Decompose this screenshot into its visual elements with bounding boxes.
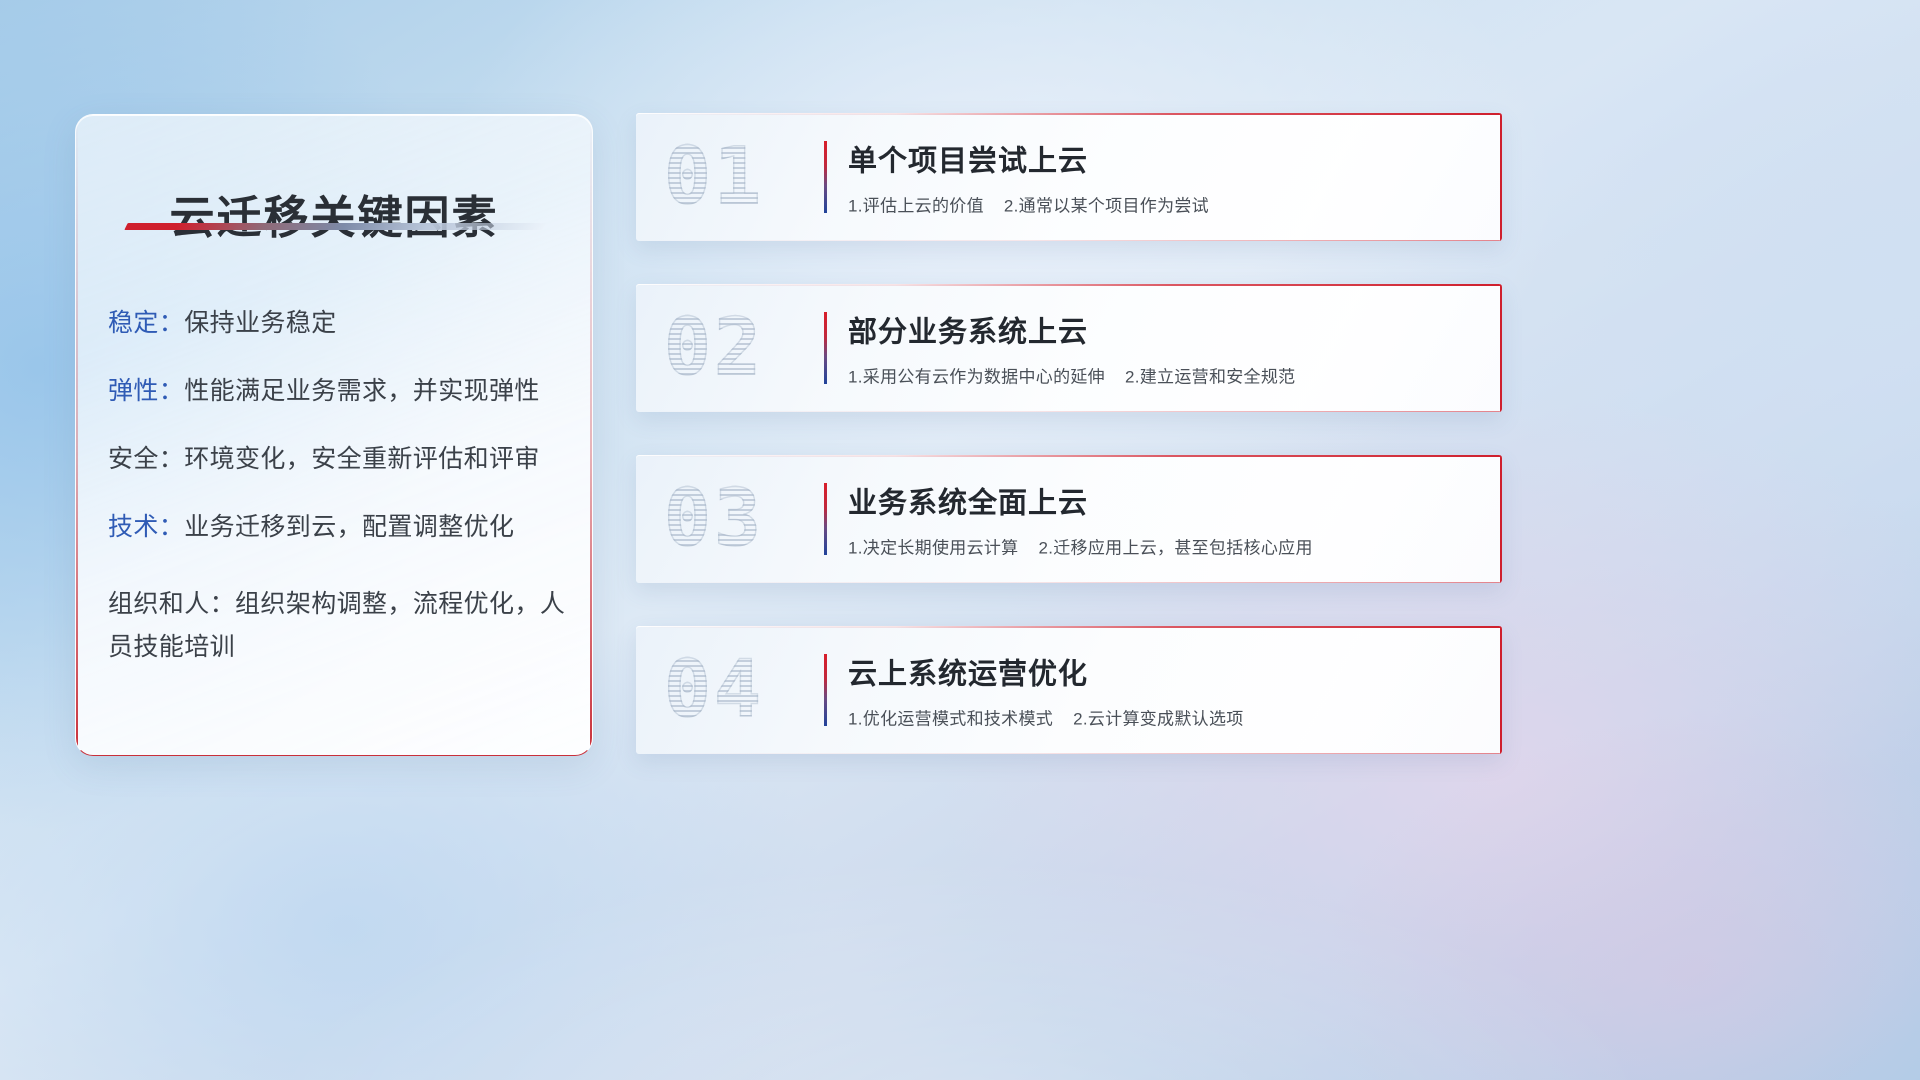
card-right-accent-line	[1500, 284, 1502, 412]
card-bottom-accent-line	[636, 411, 1502, 412]
card-bottom-accent-line	[636, 240, 1502, 241]
card-point-1: 1.评估上云的价值	[848, 197, 984, 216]
card-divider-bar	[824, 654, 827, 726]
factor-label-elasticity: 弹性：	[108, 377, 184, 405]
card-subtitle-01: 1.评估上云的价值2.通常以某个项目作为尝试	[848, 192, 1478, 217]
card-body: 云上系统运营优化 1.优化运营模式和技术模式2.云计算变成默认选项	[848, 651, 1478, 730]
slide-canvas: 云迁移关键因素 稳定：保持业务稳定 弹性：性能满足业务需求，并实现弹性 安全：环…	[0, 0, 1920, 1080]
factor-row-technology: 技术：业务迁移到云，配置调整优化	[108, 515, 568, 540]
card-divider-bar	[824, 483, 827, 555]
factor-text-security: 环境变化，安全重新评估和评审	[184, 445, 540, 473]
card-right-accent-line	[1500, 626, 1502, 754]
stage-card-02[interactable]: 02 部分业务系统上云 1.采用公有云作为数据中心的延伸2.建立运营和安全规范	[636, 284, 1502, 412]
card-subtitle-03: 1.决定长期使用云计算2.迁移应用上云，甚至包括核心应用	[848, 534, 1478, 559]
card-subtitle-02: 1.采用公有云作为数据中心的延伸2.建立运营和安全规范	[848, 363, 1478, 388]
card-point-1: 1.决定长期使用云计算	[848, 539, 1018, 558]
card-bottom-accent-line	[636, 753, 1502, 754]
card-right-accent-line	[1500, 455, 1502, 583]
card-title-03: 业务系统全面上云	[848, 480, 1478, 522]
factor-label-technology: 技术：	[108, 513, 184, 541]
card-top-accent-line	[636, 284, 1502, 286]
title-underline-gradient	[124, 223, 545, 230]
factor-text-technology: 业务迁移到云，配置调整优化	[184, 513, 514, 541]
factor-label-security: 安全：	[108, 445, 184, 473]
card-bottom-accent-line	[636, 582, 1502, 583]
card-divider-bar	[824, 141, 827, 213]
card-top-accent-line	[636, 626, 1502, 628]
factor-label-stability: 稳定：	[108, 309, 184, 337]
card-title-04: 云上系统运营优化	[848, 651, 1478, 693]
page-title: 云迁移关键因素	[76, 181, 592, 246]
card-number-02: 02	[664, 303, 764, 393]
factor-label-organization: 组织和人：	[108, 590, 235, 618]
card-point-1: 1.优化运营模式和技术模式	[848, 710, 1053, 729]
stage-card-01[interactable]: 01 单个项目尝试上云 1.评估上云的价值2.通常以某个项目作为尝试	[636, 113, 1502, 241]
card-title-02: 部分业务系统上云	[848, 309, 1478, 351]
factor-list: 稳定：保持业务稳定 弹性：性能满足业务需求，并实现弹性 安全：环境变化，安全重新…	[108, 311, 568, 669]
factor-row-stability: 稳定：保持业务稳定	[108, 311, 568, 336]
card-title-01: 单个项目尝试上云	[848, 138, 1478, 180]
card-body: 单个项目尝试上云 1.评估上云的价值2.通常以某个项目作为尝试	[848, 138, 1478, 217]
card-subtitle-04: 1.优化运营模式和技术模式2.云计算变成默认选项	[848, 705, 1478, 730]
card-top-accent-line	[636, 455, 1502, 457]
card-body: 业务系统全面上云 1.决定长期使用云计算2.迁移应用上云，甚至包括核心应用	[848, 480, 1478, 559]
factor-text-stability: 保持业务稳定	[184, 309, 336, 337]
card-number-03: 03	[664, 474, 764, 564]
card-body: 部分业务系统上云 1.采用公有云作为数据中心的延伸2.建立运营和安全规范	[848, 309, 1478, 388]
stage-card-03[interactable]: 03 业务系统全面上云 1.决定长期使用云计算2.迁移应用上云，甚至包括核心应用	[636, 455, 1502, 583]
card-number-01: 01	[664, 132, 764, 222]
factor-row-elasticity: 弹性：性能满足业务需求，并实现弹性	[108, 379, 568, 404]
factor-text-elasticity: 性能满足业务需求，并实现弹性	[184, 377, 540, 405]
factor-row-organization: 组织和人：组织架构调整，流程优化，人员技能培训	[108, 583, 568, 669]
card-divider-bar	[824, 312, 827, 384]
card-point-2: 2.云计算变成默认选项	[1073, 710, 1243, 729]
card-point-2: 2.建立运营和安全规范	[1125, 368, 1295, 387]
card-point-2: 2.迁移应用上云，甚至包括核心应用	[1038, 539, 1312, 558]
factor-row-security: 安全：环境变化，安全重新评估和评审	[108, 447, 568, 472]
card-point-1: 1.采用公有云作为数据中心的延伸	[848, 368, 1105, 387]
card-top-accent-line	[636, 113, 1502, 115]
card-right-accent-line	[1500, 113, 1502, 241]
card-number-04: 04	[664, 645, 764, 735]
stage-card-04[interactable]: 04 云上系统运营优化 1.优化运营模式和技术模式2.云计算变成默认选项	[636, 626, 1502, 754]
card-point-2: 2.通常以某个项目作为尝试	[1004, 197, 1209, 216]
key-factors-panel: 云迁移关键因素 稳定：保持业务稳定 弹性：性能满足业务需求，并实现弹性 安全：环…	[75, 114, 593, 756]
migration-stage-cards: 01 单个项目尝试上云 1.评估上云的价值2.通常以某个项目作为尝试 02 部分…	[636, 113, 1502, 797]
